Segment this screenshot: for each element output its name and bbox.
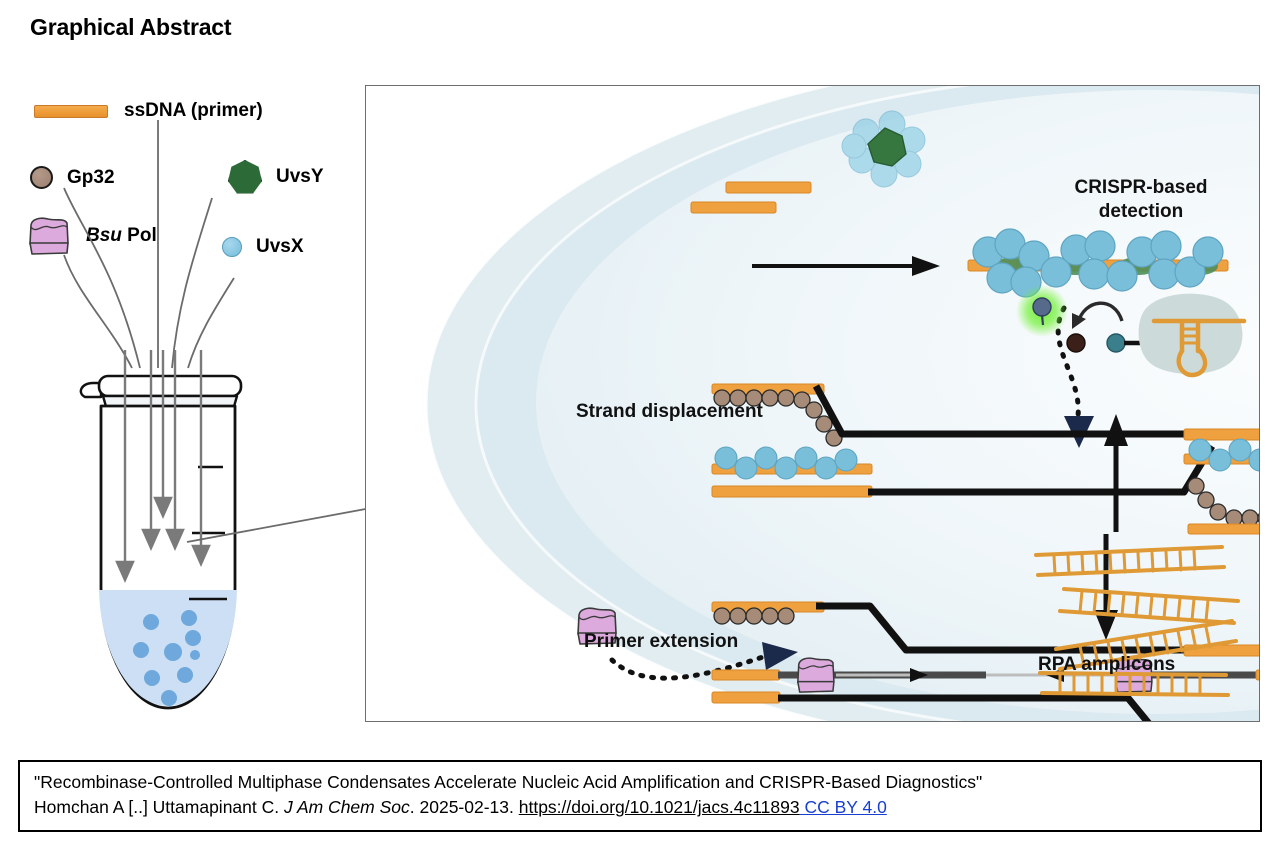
arrow-to-filament <box>752 256 940 276</box>
crispr-line-1: CRISPR-based <box>1074 177 1207 198</box>
label-strand-displacement: Strand displacement <box>576 401 763 423</box>
citation-title: "Recombinase-Controlled Multiphase Conde… <box>34 770 1246 795</box>
legend-label-ssdna: ssDNA (primer) <box>124 100 263 122</box>
citation-date: . 2025-02-13. <box>410 797 519 817</box>
graphical-abstract-page: Graphical Abstract ssDNA (primer) Gp32 U… <box>0 0 1280 855</box>
page-title: Graphical Abstract <box>30 14 231 41</box>
citation-journal: J Am Chem Soc <box>284 797 410 817</box>
citation-box: "Recombinase-Controlled Multiphase Conde… <box>18 760 1262 832</box>
uvsx-on-primer-left <box>715 447 857 479</box>
crispr-detection-graphic <box>1006 271 1256 391</box>
cas-effector <box>1139 294 1243 374</box>
arrow-amplicons-to-crispr <box>1086 406 1146 536</box>
free-primers <box>691 182 811 213</box>
orange-bar-icon <box>34 105 108 118</box>
legend-item-ssdna: ssDNA (primer) <box>34 100 263 122</box>
gp32-beads-ext-upper <box>714 608 794 624</box>
citation-meta: Homchan A [..] Uttamapinant C. J Am Chem… <box>34 795 1246 820</box>
fluorophore <box>1033 298 1051 316</box>
crispr-line-2: detection <box>1099 201 1183 222</box>
strand-displacement-complex <box>712 384 1260 534</box>
quencher <box>1067 334 1085 352</box>
mechanism-panel: Strand displacement Primer extension RPA… <box>365 85 1260 722</box>
label-crispr-detection: CRISPR-based detection <box>1036 176 1246 224</box>
zoom-leader-line <box>185 430 375 560</box>
bsu-pol-on-strand-left <box>798 658 834 692</box>
doi-link[interactable]: https://doi.org/10.1021/jacs.4c11893 <box>519 797 800 817</box>
label-rpa-amplicons: RPA amplicons <box>1038 654 1175 676</box>
license-link[interactable]: CC BY 4.0 <box>800 797 887 817</box>
reporter-fluorophore <box>1107 334 1125 352</box>
uvsx-uvsy-complex <box>842 111 925 187</box>
gp32-beads-lower <box>1188 478 1260 526</box>
label-primer-extension: Primer extension <box>584 631 738 653</box>
rpa-amplicons <box>1026 541 1246 701</box>
citation-authors: Homchan A [..] Uttamapinant C. <box>34 797 284 817</box>
